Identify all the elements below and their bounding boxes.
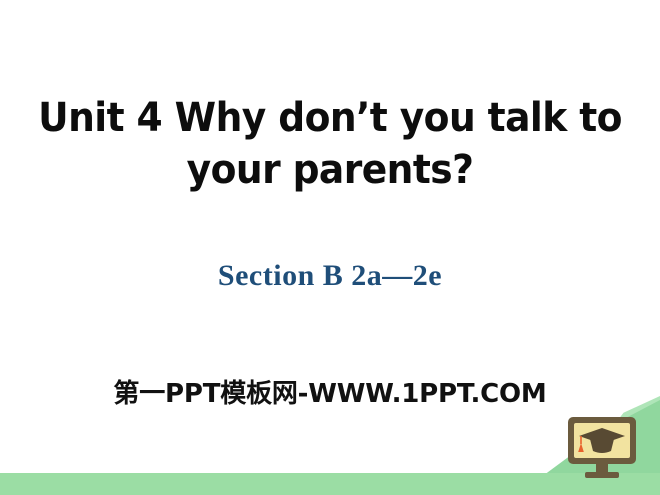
watermark-text: 第一PPT模板网-WWW.1PPT.COM [0,378,660,410]
slide-title-line-1: Unit 4 Why don’t you talk to [20,92,640,144]
slide-title-line-2: your parents? [20,144,640,196]
slide-subtitle: Section B 2a—2e [0,258,660,294]
slide-title: Unit 4 Why don’t you talk to your parent… [0,92,660,196]
green-footer-band [0,473,660,495]
presentation-slide: Unit 4 Why don’t you talk to your parent… [0,0,660,495]
monitor-graduation-cap-logo [565,415,639,481]
